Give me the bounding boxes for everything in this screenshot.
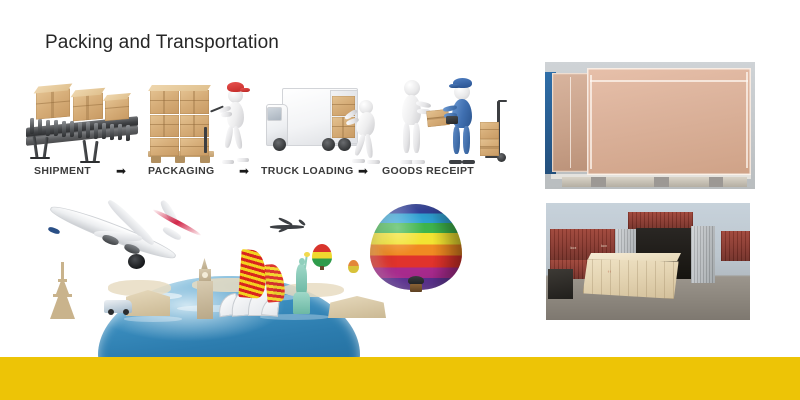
step-label-shipment: SHIPMENT: [34, 165, 91, 177]
eiffel-tower-icon: [46, 262, 80, 320]
wooden-crate: [583, 259, 679, 299]
airliner-icon: [46, 202, 194, 266]
big-ben-icon: [192, 258, 218, 320]
customer-figure: [396, 76, 430, 164]
chevron-right-icon-3: ➡: [356, 165, 370, 177]
pallet-jack-worker-icon: [144, 74, 254, 164]
temple-building-icon: [328, 296, 386, 318]
process-labels-row: SHIPMENT ➡ PACKAGING ➡ TRUCK LOADING ➡ G…: [0, 162, 520, 180]
worker-figure: [218, 78, 252, 164]
global-transport-collage: [40, 196, 492, 322]
sail-flags-icon-2: [264, 263, 285, 302]
page-title: Packing and Transportation: [45, 32, 279, 54]
small-hot-air-balloon-icon: [312, 244, 332, 267]
conveyor-boxes-icon: [24, 74, 142, 164]
hand-truck-icon: [478, 100, 508, 162]
truck-loading-icon: [264, 74, 386, 164]
loader-figure: [350, 98, 382, 164]
tiny-hot-air-balloon-icon: [348, 260, 359, 273]
crate-side-panel: [552, 73, 590, 172]
container-marking-1: kcx: [570, 246, 576, 250]
statue-of-liberty-icon: [288, 254, 314, 314]
crate-handling-mark: ↑↑: [607, 269, 611, 274]
process-illustration-strip: [22, 72, 512, 164]
car-wheel-right: [123, 309, 129, 315]
small-balloon-basket: [320, 266, 324, 270]
blue-cap-icon: [453, 78, 472, 88]
mini-plane-icon: [268, 220, 306, 234]
sail-flags-icon: [238, 249, 267, 299]
container-loading-photo: kcx kcx ↑↑: [546, 203, 750, 320]
car-wheel-left: [108, 309, 114, 315]
container-door-right: [691, 226, 715, 282]
chevron-right-icon-2: ➡: [237, 165, 251, 177]
parcel-handover-icon: [394, 74, 512, 164]
step-label-goods-receipt: GOODS RECEIPT: [382, 165, 474, 177]
plywood-shipping-crate-photo: [545, 62, 755, 189]
courier-figure: [444, 76, 480, 164]
red-container-stack-right: [721, 231, 750, 261]
step-label-packaging: PACKAGING: [148, 165, 215, 177]
footer-accent-bar: [0, 357, 800, 400]
container-marking-2: kcx: [601, 244, 607, 248]
hot-air-balloon-icon: [370, 204, 462, 290]
chevron-right-icon-1: ➡: [114, 165, 128, 177]
crate-front-panel: [587, 68, 751, 175]
step-label-truck-loading: TRUCK LOADING: [261, 165, 354, 177]
forklift-icon: [548, 269, 572, 299]
slide-canvas: Packing and Transportation: [0, 0, 800, 400]
red-cap-icon: [227, 82, 244, 92]
